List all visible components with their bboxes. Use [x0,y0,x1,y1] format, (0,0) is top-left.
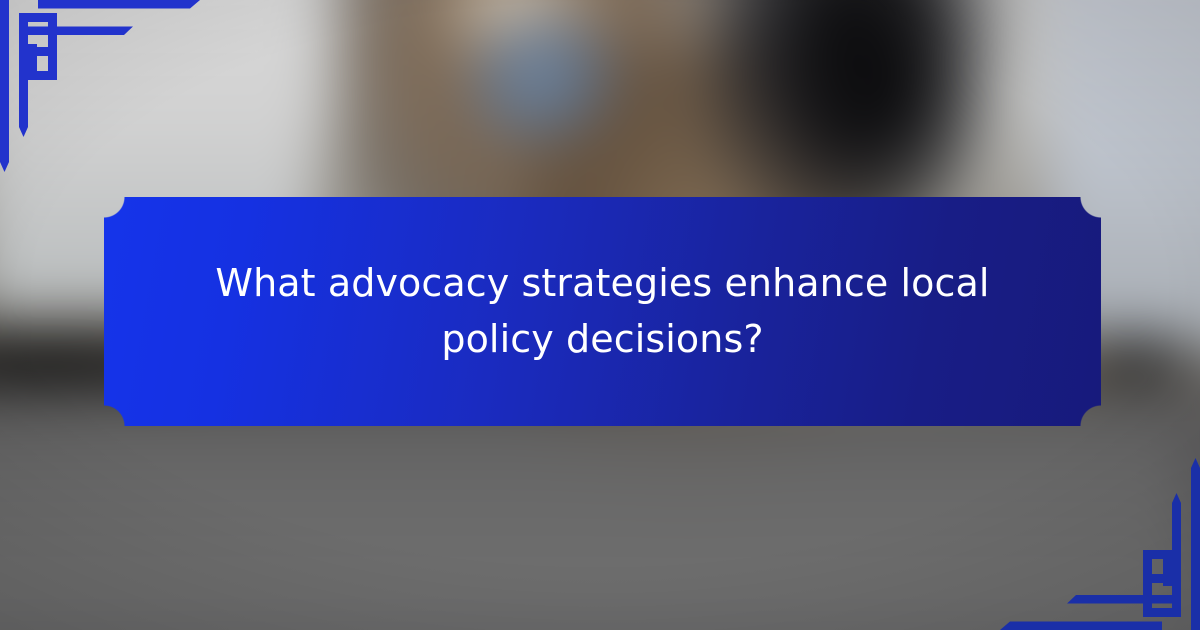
page-title: What advocacy strategies enhance local p… [208,256,998,368]
question-banner-content: What advocacy strategies enhance local p… [104,197,1101,426]
question-banner: What advocacy strategies enhance local p… [104,197,1101,426]
banner-canvas: What advocacy strategies enhance local p… [0,0,1200,630]
